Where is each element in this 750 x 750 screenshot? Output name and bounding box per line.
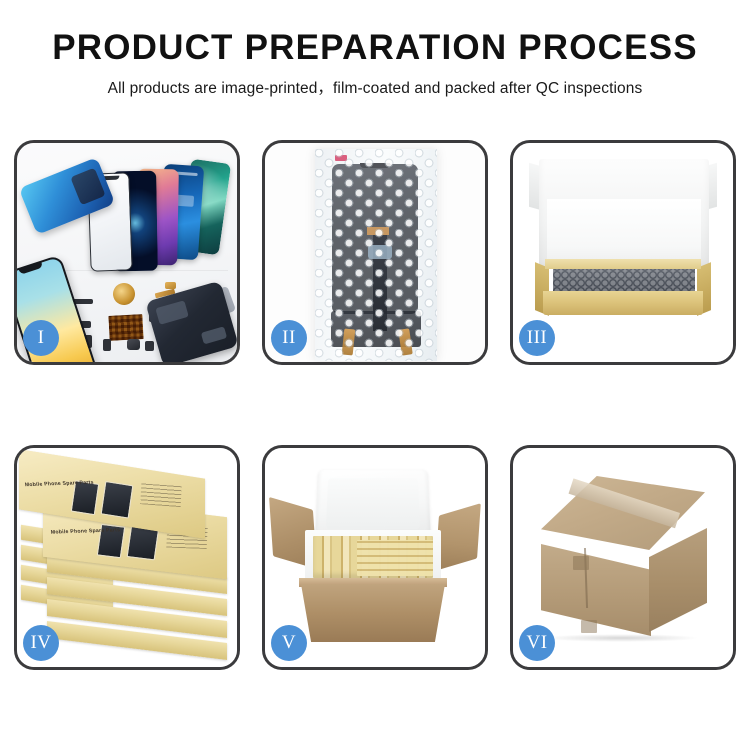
step-badge-4: IV (23, 625, 59, 661)
process-step-grid: I II (14, 140, 736, 670)
box-artwork-screen (101, 481, 134, 519)
spare-part-sensor (145, 341, 154, 351)
step-image-5: V (265, 448, 485, 667)
page-header: PRODUCT PREPARATION PROCESS All products… (0, 0, 750, 98)
foam-lid (315, 470, 431, 539)
spare-part-speaker (127, 339, 140, 350)
step-panel-1[interactable]: I (14, 140, 240, 365)
carton-handle-tab-bottom (581, 620, 597, 633)
box-spec-text-block (140, 482, 182, 507)
step-panel-5[interactable]: V (262, 445, 488, 670)
carton-front-wall (301, 584, 445, 642)
retail-boxes-in-carton-row2 (357, 540, 433, 576)
step-badge-5: V (271, 625, 307, 661)
step-panel-2[interactable]: II (262, 140, 488, 365)
step-badge-3: III (519, 320, 555, 356)
step-badge-6: VI (519, 625, 555, 661)
ic-chip-grid-part (108, 314, 143, 341)
step-image-2: II (265, 143, 485, 362)
page-title: PRODUCT PREPARATION PROCESS (0, 30, 750, 67)
step-image-3: III (513, 143, 733, 362)
white-foam-liner (547, 199, 701, 267)
kraft-tray-front-wall (543, 291, 703, 315)
step-panel-3[interactable]: III (510, 140, 736, 365)
spare-part-vibrator (103, 339, 111, 351)
bubble-wrap-bag (315, 149, 437, 361)
page-subtitle: All products are image-printed，film-coat… (0, 76, 750, 98)
step-badge-1: I (23, 320, 59, 356)
spare-part-gold-contact (165, 282, 176, 289)
step-image-6: VI (513, 448, 733, 667)
carton-handle-tab-top (573, 556, 589, 570)
step-image-4: Mobile Phone Spare Parts Mobile Phone Sp… (17, 448, 237, 667)
carton-ground-shadow (543, 634, 699, 642)
kraft-tray-rim (545, 259, 701, 269)
step-image-1: I (17, 143, 237, 362)
step-badge-2: II (271, 320, 307, 356)
step-panel-4[interactable]: Mobile Phone Spare Parts Mobile Phone Sp… (14, 445, 240, 670)
step-panel-6[interactable]: VI (510, 445, 736, 670)
bubble-texture (315, 149, 437, 361)
